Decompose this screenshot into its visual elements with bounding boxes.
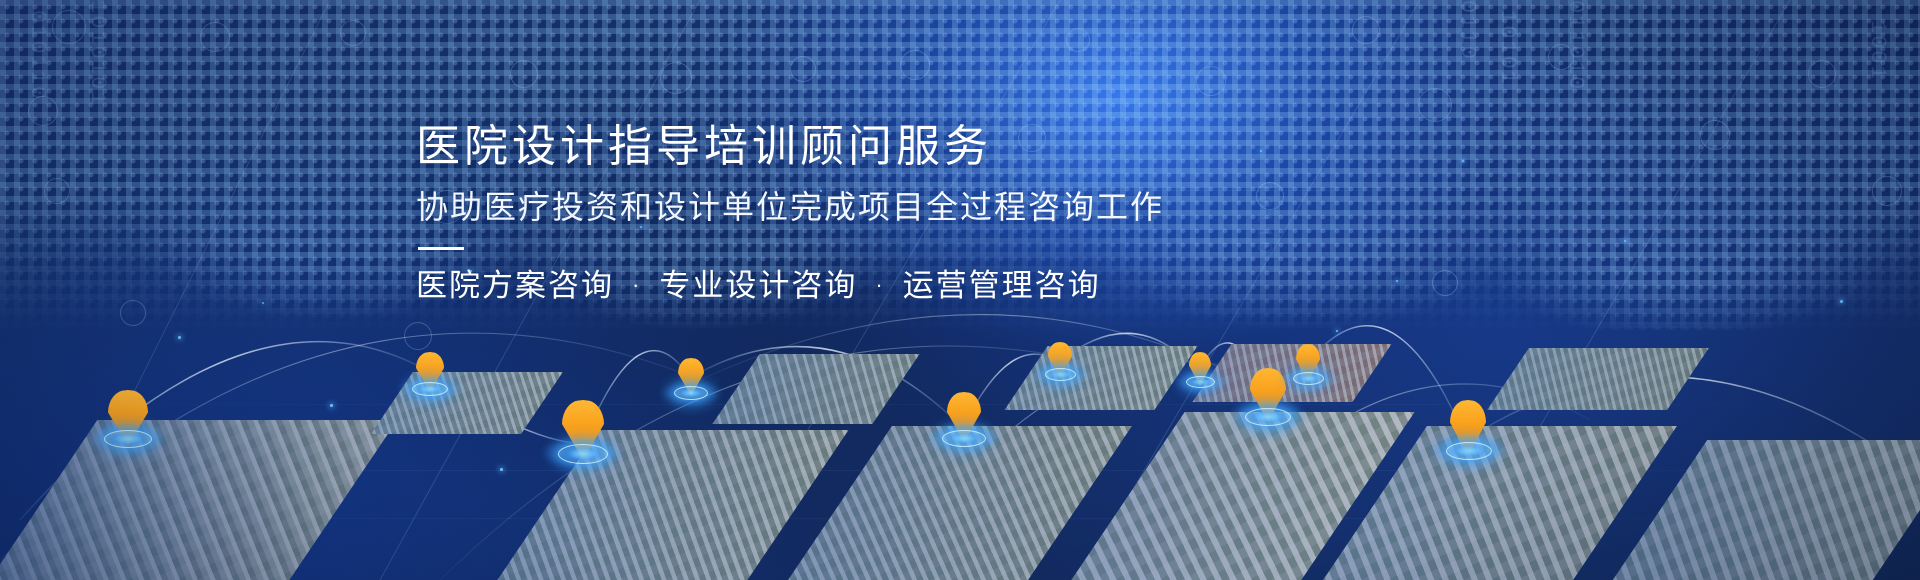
service-item-1: 专业设计咨询	[659, 264, 857, 307]
pin-halo	[1045, 368, 1076, 381]
pin-halo	[1186, 376, 1215, 388]
pin-halo	[1446, 442, 1492, 460]
service-item-2: 运营管理咨询	[903, 264, 1101, 307]
service-separator: ·	[871, 270, 888, 301]
page-title: 医院设计指导培训顾问服务	[416, 118, 1164, 177]
service-item-0: 医院方案咨询	[416, 264, 614, 307]
pin-halo	[412, 382, 448, 396]
title-divider	[418, 247, 464, 250]
pin-halo	[674, 386, 708, 400]
service-separator: ·	[628, 270, 645, 301]
hero-banner: 010110 1010101 0110 10101 011010 1001 01…	[0, 0, 1920, 580]
service-list: 医院方案咨询 · 专业设计咨询 · 运营管理咨询	[416, 264, 1164, 307]
pin-halo	[558, 444, 608, 464]
hero-copy: 医院设计指导培训顾问服务 协助医疗投资和设计单位完成项目全过程咨询工作 医院方案…	[416, 118, 1164, 307]
pin-halo	[104, 430, 152, 448]
page-subtitle: 协助医疗投资和设计单位完成项目全过程咨询工作	[416, 183, 1164, 231]
pin-halo	[1245, 408, 1291, 426]
pin-halo	[942, 430, 986, 447]
pin-halo	[1293, 372, 1324, 385]
